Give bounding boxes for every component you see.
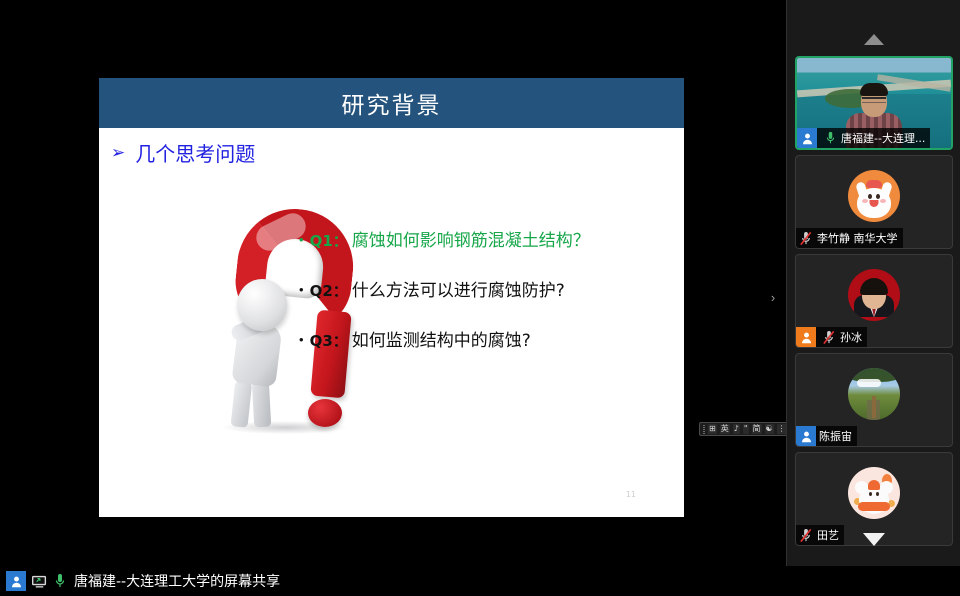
question-mark-dot — [308, 399, 342, 427]
landscape-post — [872, 396, 876, 418]
portrait-hair — [860, 278, 888, 295]
triangle-down-icon — [863, 533, 885, 546]
participant-name-strip: 陈振宙 — [796, 426, 857, 446]
rabbit-eye-left — [868, 194, 872, 199]
question-text: 腐蚀如何影响钢筋混凝土结构？ — [352, 226, 590, 251]
slide-subheading: ➢ 几个思考问题 — [111, 138, 255, 167]
mouse-hat — [868, 480, 880, 490]
chevron-right-icon[interactable]: › — [766, 288, 780, 308]
arrow-bullet-icon: ➢ — [111, 144, 125, 161]
participant-tile[interactable]: 唐福建--大连理... — [795, 56, 953, 150]
person-icon — [6, 571, 26, 591]
mouse-eye-right — [876, 492, 879, 496]
participant-name: 唐福建--大连理... — [841, 130, 925, 146]
slide-number: 11 — [626, 490, 636, 499]
microphone-icon — [822, 130, 838, 146]
bullet-icon: • — [299, 233, 304, 246]
participant-tile[interactable]: 陈振宙 — [795, 353, 953, 447]
ime-keyboard-icon[interactable]: ⊞ — [708, 424, 717, 434]
avatar — [848, 368, 900, 420]
participant-tile[interactable]: 孙冰 — [795, 254, 953, 348]
bullet-icon: • — [299, 333, 304, 346]
ime-more-icon[interactable]: ⋮ — [777, 424, 786, 434]
microphone-muted-icon — [821, 329, 837, 345]
ime-language-toggle[interactable]: 英 — [720, 424, 730, 434]
avatar — [848, 269, 900, 321]
screen-share-status-text: 唐福建--大连理工大学的屏幕共享 — [74, 571, 280, 591]
participant-name: 陈振宙 — [819, 428, 852, 444]
presentation-slide: 研究背景 ➢ 几个思考问题 • — [99, 78, 684, 517]
presenter-hair — [860, 83, 888, 96]
bullet-icon: • — [299, 283, 304, 296]
participant-name-strip: 孙冰 — [796, 327, 867, 347]
avatar — [848, 467, 900, 519]
triangle-up-icon — [864, 34, 884, 45]
microphone-muted-icon — [798, 230, 814, 246]
ime-punctuation-icon[interactable]: " — [743, 424, 749, 434]
participant-name-strip: 李竹静 南华大学 — [796, 228, 903, 248]
status-bar: 唐福建--大连理工大学的屏幕共享 — [0, 566, 960, 596]
avatar — [848, 170, 900, 222]
question-text: 什么方法可以进行腐蚀防护? — [352, 276, 565, 301]
participant-name: 孙冰 — [840, 329, 862, 345]
mouse-scarf — [858, 502, 890, 511]
participant-video-panel: 唐福建--大连理... — [786, 0, 960, 566]
question-row: • Q2： 什么方法可以进行腐蚀防护? — [299, 276, 669, 301]
person-icon — [796, 426, 816, 446]
scroll-down-button[interactable] — [787, 526, 960, 552]
question-label: Q1： — [310, 230, 348, 251]
ime-drag-handle[interactable] — [703, 425, 705, 434]
question-label: Q2： — [310, 280, 348, 301]
meeting-screen-share-window: 研究背景 ➢ 几个思考问题 • — [0, 0, 960, 596]
rabbit-cheek-left — [862, 199, 868, 203]
rabbit-cheek-right — [880, 199, 886, 203]
slide-subheading-text: 几个思考问题 — [135, 138, 255, 167]
question-row: • Q1： 腐蚀如何影响钢筋混凝土结构？ — [299, 226, 669, 251]
ime-sound-icon[interactable]: ♪ — [733, 424, 740, 434]
question-text: 如何监测结构中的腐蚀? — [352, 326, 531, 351]
figure-head — [237, 279, 287, 331]
ime-floating-toolbar[interactable]: ⊞ 英 ♪ " 简 ☯ ⋮ — [699, 422, 786, 436]
person-icon — [797, 128, 817, 148]
ime-simplified-toggle[interactable]: 简 — [752, 424, 762, 434]
screen-share-icon — [30, 573, 48, 589]
glasses-icon — [862, 97, 886, 103]
rabbit-bow — [866, 180, 882, 188]
participant-name-strip: 唐福建--大连理... — [797, 128, 930, 148]
scroll-up-button[interactable] — [787, 26, 960, 52]
participant-tile-list: 唐福建--大连理... — [787, 56, 960, 551]
participant-name: 李竹静 南华大学 — [817, 230, 898, 246]
question-row: • Q3： 如何监测结构中的腐蚀? — [299, 326, 669, 351]
question-list: • Q1： 腐蚀如何影响钢筋混凝土结构？ • Q2： 什么方法可以进行腐蚀防护?… — [299, 226, 669, 376]
figure-leg-left — [231, 378, 253, 428]
person-icon — [796, 327, 816, 347]
ime-settings-icon[interactable]: ☯ — [765, 424, 774, 434]
landscape-cloud — [857, 379, 881, 387]
question-label: Q3： — [310, 330, 348, 351]
slide-title: 研究背景 — [342, 86, 442, 120]
slide-title-banner: 研究背景 — [99, 78, 684, 128]
participant-tile[interactable]: 李竹静 南华大学 — [795, 155, 953, 249]
microphone-icon — [52, 572, 68, 590]
shared-screen-region: 研究背景 ➢ 几个思考问题 • — [0, 0, 786, 566]
